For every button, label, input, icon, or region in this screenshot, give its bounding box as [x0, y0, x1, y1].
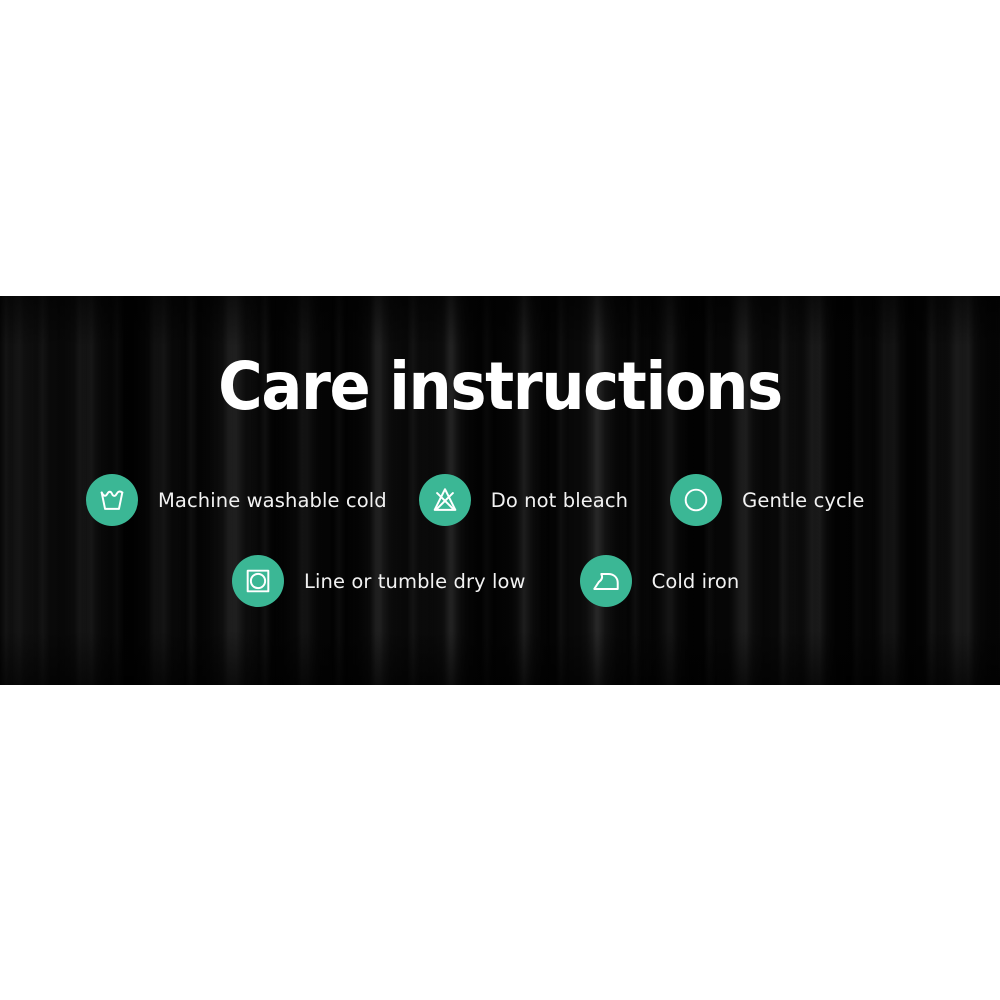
care-item-label: Gentle cycle [742, 489, 864, 512]
do-not-bleach-icon [419, 474, 471, 526]
wash-tub-icon [86, 474, 138, 526]
care-item-machine-washable-cold: Machine washable cold [86, 474, 387, 526]
care-item-label: Do not bleach [491, 489, 628, 512]
care-item-gentle-cycle: Gentle cycle [670, 474, 864, 526]
care-row-1: Machine washable cold Do not bleach [0, 474, 1000, 526]
care-instructions-page: Care instructions Machine washable cold [0, 0, 1000, 1000]
care-item-cold-iron: Cold iron [580, 555, 740, 607]
care-instructions-banner: Care instructions Machine washable cold [0, 296, 1000, 685]
page-title: Care instructions [40, 354, 960, 420]
care-item-label: Cold iron [652, 570, 740, 593]
care-item-do-not-bleach: Do not bleach [419, 474, 628, 526]
gentle-cycle-icon [670, 474, 722, 526]
iron-icon [580, 555, 632, 607]
tumble-dry-icon [232, 555, 284, 607]
care-item-line-or-tumble-dry-low: Line or tumble dry low [232, 555, 526, 607]
care-item-label: Machine washable cold [158, 489, 387, 512]
care-row-2: Line or tumble dry low Cold iron [0, 555, 1000, 607]
care-item-label: Line or tumble dry low [304, 570, 526, 593]
